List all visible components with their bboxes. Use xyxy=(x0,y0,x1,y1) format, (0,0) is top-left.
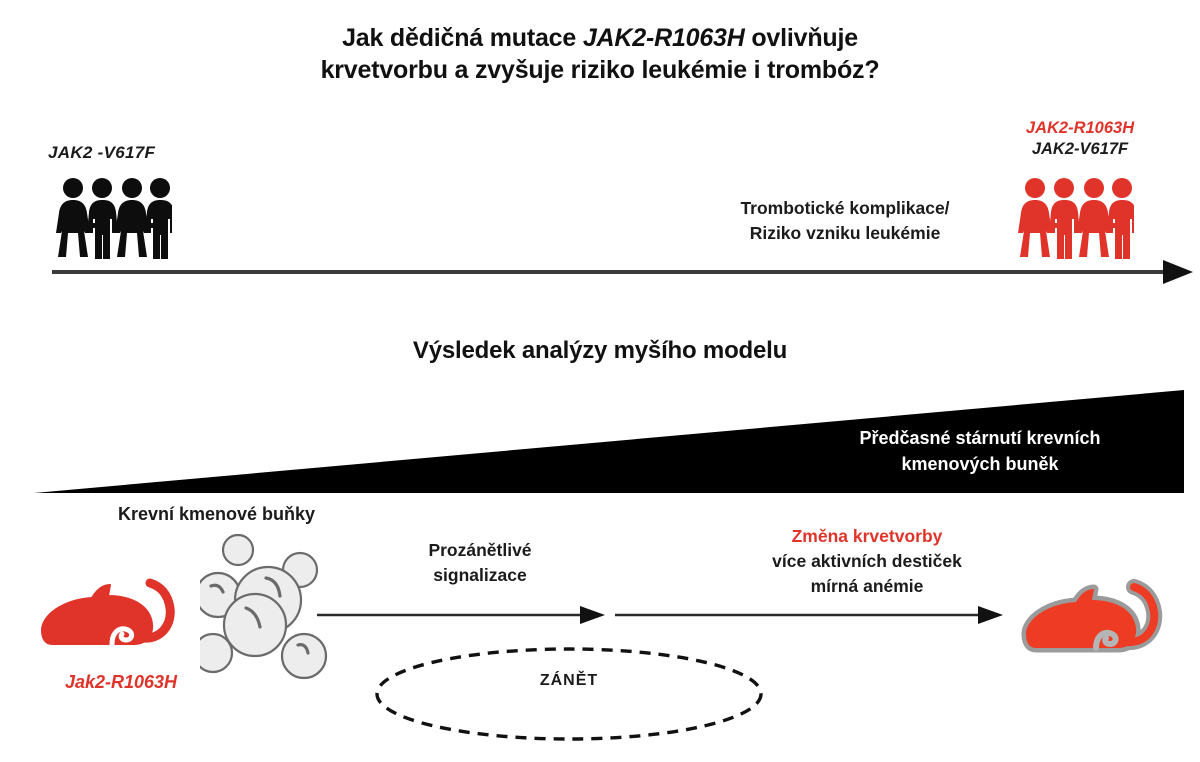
arrow-proinflammatory-label: Prozánětlivé signalizace xyxy=(380,538,580,588)
title-gene-name: JAK2-R1063H xyxy=(583,24,745,52)
arrow2-label-line-1: Změna krvetvorby xyxy=(722,524,1012,549)
people-group-black-icon xyxy=(56,176,172,266)
title-post: ovlivňuje xyxy=(745,24,858,52)
risk-line-2: Riziko vzniku leukémie xyxy=(700,221,990,246)
page-title: Jak dědičná mutace JAK2-R1063H ovlivňuje… xyxy=(0,22,1200,86)
title-pre: Jak dědičná mutace xyxy=(342,24,583,52)
mouse-red-icon xyxy=(36,558,196,673)
arrow-proinflammatory-icon xyxy=(316,604,606,631)
right-cohort-label-line-1: JAK2-R1063H xyxy=(1000,118,1160,139)
stem-cells-label: Krevní kmenové buňky xyxy=(118,504,315,525)
title-line-1: Jak dědičná mutace JAK2-R1063H ovlivňuje xyxy=(0,22,1200,54)
arrow1-label-line-1: Prozánětlivé xyxy=(380,538,580,563)
section-subtitle: Výsledek analýzy myšího modelu xyxy=(0,337,1200,365)
wedge-caption-line-2: kmenových buněk xyxy=(800,451,1160,477)
right-cohort-label: JAK2-R1063H JAK2-V617F xyxy=(1000,118,1160,160)
mouse-red-outlined-icon xyxy=(1020,562,1180,677)
left-cohort-label: JAK2 -V617F xyxy=(48,143,155,163)
title-line-2: krvetvorbu a zvyšuje riziko leukémie i t… xyxy=(0,54,1200,86)
timeline-right-arrow-icon xyxy=(50,258,1195,291)
people-group-red-icon xyxy=(1018,176,1134,266)
mouse-genotype-label: Jak2-R1063H xyxy=(26,672,216,693)
dashed-ellipse-icon xyxy=(374,646,764,747)
right-cohort-label-line-2: JAK2-V617F xyxy=(1000,139,1160,160)
arrow-hematopoiesis-icon xyxy=(614,604,1004,631)
infographic-canvas: Jak dědičná mutace JAK2-R1063H ovlivňuje… xyxy=(0,0,1200,762)
arrow1-label-line-2: signalizace xyxy=(380,563,580,588)
risk-description: Trombotické komplikace/ Riziko vzniku le… xyxy=(700,196,990,246)
arrow-hematopoiesis-label: Změna krvetvorby více aktivních destiček… xyxy=(722,524,1012,599)
risk-line-1: Trombotické komplikace/ xyxy=(700,196,990,221)
inflammation-label: ZÁNĚT xyxy=(374,672,764,690)
arrow2-label-line-3: mírná anémie xyxy=(722,574,1012,599)
arrow2-label-line-2: více aktivních destiček xyxy=(722,549,1012,574)
wedge-caption: Předčasné stárnutí krevních kmenových bu… xyxy=(800,425,1160,477)
wedge-caption-line-1: Předčasné stárnutí krevních xyxy=(800,425,1160,451)
